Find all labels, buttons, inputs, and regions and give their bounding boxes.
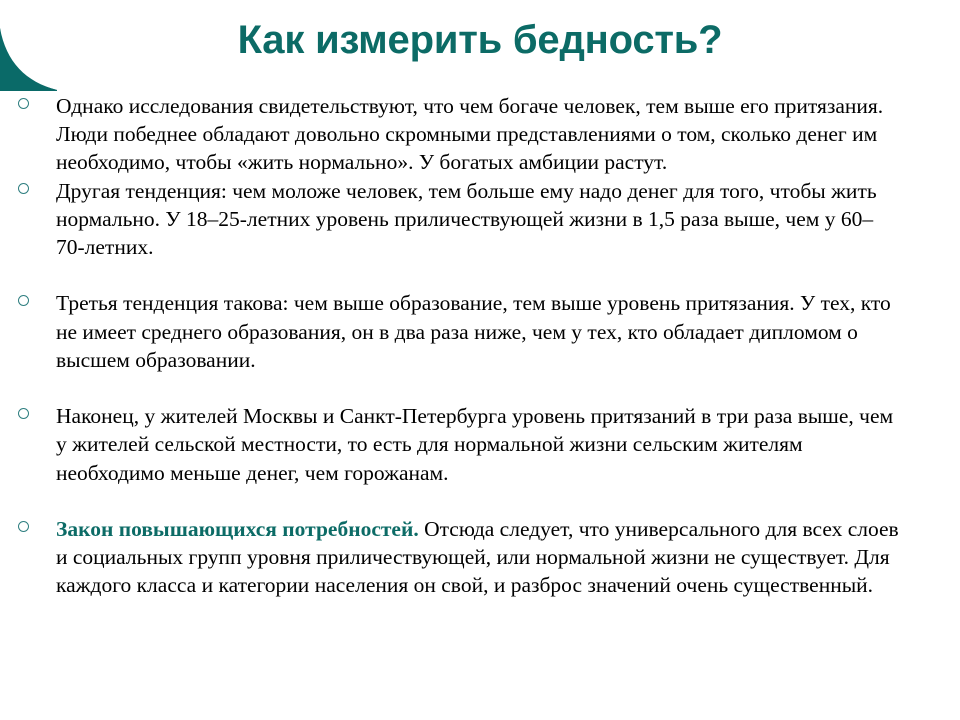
list-item: Однако исследования свидетельствуют, что… [10,92,900,177]
page-title: Как измерить бедность? [0,17,960,63]
bullet-circle-icon [18,408,29,419]
list-item-text: Закон повышающихся потребностей. Отсюда … [56,515,900,600]
list-item: Другая тенденция: чем моложе человек, те… [10,177,900,262]
list-item-lead-emphasis: Закон повышающихся потребностей. [56,517,419,541]
list-item: Наконец, у жителей Москвы и Санкт-Петерб… [10,402,900,487]
list-item: Закон повышающихся потребностей. Отсюда … [10,515,900,600]
bullet-circle-icon [18,295,29,306]
bullet-circle-icon [18,98,29,109]
list-item-text: Третья тенденция такова: чем выше образо… [56,289,900,374]
list-item-text: Однако исследования свидетельствуют, что… [56,92,900,177]
bullet-list: Однако исследования свидетельствуют, что… [10,92,900,600]
bullet-circle-icon [18,183,29,194]
list-item-text: Другая тенденция: чем моложе человек, те… [56,177,900,262]
list-item: Третья тенденция такова: чем выше образо… [10,289,900,374]
slide-canvas: Как измерить бедность? Однако исследован… [0,0,960,720]
list-item-text: Наконец, у жителей Москвы и Санкт-Петерб… [56,402,900,487]
bullet-circle-icon [18,521,29,532]
